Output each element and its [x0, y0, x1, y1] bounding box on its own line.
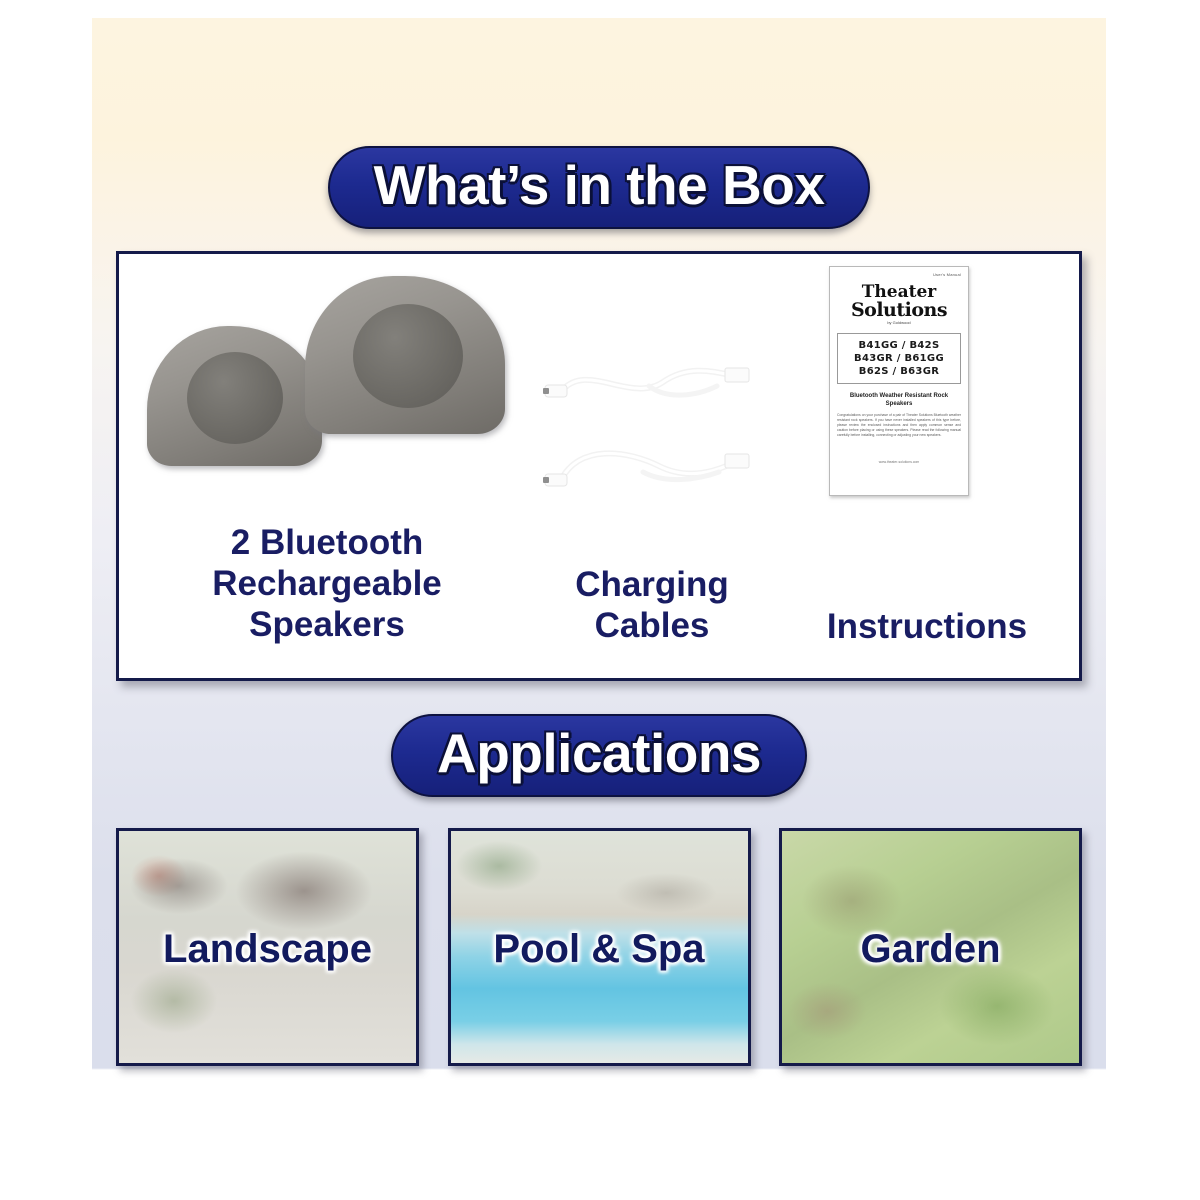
- manual-users-manual-note: User's Manual: [837, 272, 961, 277]
- box-contents-panel: 2 Bluetooth Rechargeable Speakers: [116, 251, 1082, 681]
- box-item-cables: Charging Cables: [517, 254, 787, 678]
- manual-artwork: User's Manual Theater Solutions by Goldw…: [787, 254, 1067, 522]
- rock-speaker-small-icon: [147, 326, 322, 466]
- applications-banner-text: Applications: [437, 725, 761, 782]
- rock-speaker-large-icon: [305, 276, 505, 434]
- whats-in-the-box-banner-text: What’s in the Box: [374, 157, 825, 214]
- manual-model-line-2: B43GR / B61GG: [841, 352, 957, 365]
- landscape-label: Landscape: [119, 927, 416, 971]
- applications-tiles-row: Landscape Pool & Spa Garden: [116, 828, 1082, 1066]
- speakers-caption-line-3: Speakers: [249, 605, 405, 644]
- speakers-caption-line-1: 2 Bluetooth: [231, 523, 423, 562]
- manual-model-line-3: B62S / B63GR: [841, 365, 957, 378]
- application-tile-landscape: Landscape: [116, 828, 419, 1066]
- speakers-caption: 2 Bluetooth Rechargeable Speakers: [137, 522, 517, 645]
- application-tile-garden: Garden: [779, 828, 1082, 1066]
- manual-subtitle: Bluetooth Weather Resistant Rock Speaker…: [837, 392, 961, 408]
- manual-model-line-1: B41GG / B42S: [841, 339, 957, 352]
- manual-body-text: Congratulations on your purchase of a pa…: [837, 413, 961, 438]
- pool-and-spa-label: Pool & Spa: [451, 927, 748, 971]
- manual-brand-line-2: Solutions: [837, 301, 961, 320]
- box-contents-columns: 2 Bluetooth Rechargeable Speakers: [119, 254, 1079, 678]
- instructions-caption: Instructions: [787, 606, 1067, 647]
- cables-caption-line-1: Charging: [575, 565, 729, 604]
- cables-caption: Charging Cables: [517, 564, 787, 646]
- manual-footer-text: www.theater-solutions.com: [837, 460, 961, 464]
- cables-caption-line-2: Cables: [595, 606, 710, 645]
- garden-label: Garden: [782, 927, 1079, 971]
- applications-banner: Applications: [391, 714, 807, 797]
- cables-artwork: [517, 254, 787, 522]
- instruction-manual-card: User's Manual Theater Solutions by Goldw…: [829, 266, 969, 496]
- product-infographic-poster: What’s in the Box 2 Bluetooth Rechargeab…: [92, 18, 1106, 1183]
- speakers-artwork: [137, 254, 517, 522]
- manual-brand-logo: Theater Solutions by Goldwood: [837, 284, 961, 326]
- usb-cable-icon-bottom: [539, 432, 754, 498]
- manual-model-numbers-box: B41GG / B42S B43GR / B61GG B62S / B63GR: [837, 333, 961, 384]
- applications-banner-wrap: Applications: [92, 714, 1106, 797]
- instructions-caption-line-1: Instructions: [827, 607, 1027, 646]
- box-item-speakers: 2 Bluetooth Rechargeable Speakers: [137, 254, 517, 678]
- usb-cable-icon-top: [539, 352, 754, 418]
- box-item-instructions: User's Manual Theater Solutions by Goldw…: [787, 254, 1067, 678]
- whats-in-the-box-banner: What’s in the Box: [328, 146, 871, 229]
- speakers-caption-line-2: Rechargeable: [212, 564, 442, 603]
- whats-in-the-box-banner-wrap: What’s in the Box: [92, 146, 1106, 229]
- application-tile-pool-and-spa: Pool & Spa: [448, 828, 751, 1066]
